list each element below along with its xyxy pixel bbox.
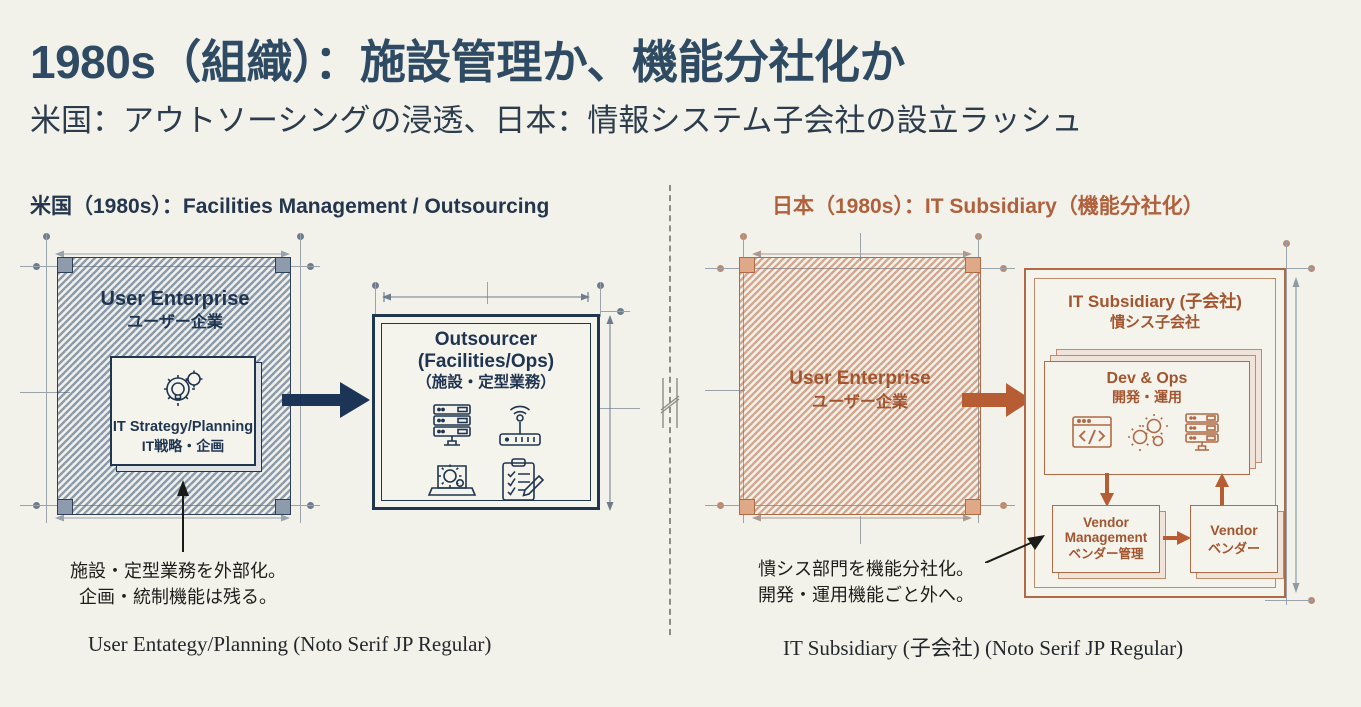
frame-corner	[739, 499, 755, 515]
guide-line-vertical	[375, 282, 376, 317]
it-subsidiary-label-jp: 憒シス子会社	[1110, 314, 1200, 332]
frame-corner	[57, 257, 73, 273]
slide-root: 1980s（組織）：施設管理か、機能分社化か 米国：アウトソーシングの浸透、日本…	[0, 0, 1361, 707]
vendor-label-en: Vendor	[1210, 522, 1257, 538]
code-window-icon	[1070, 413, 1114, 451]
server-rack-icon	[426, 402, 478, 450]
left-panel-heading: 米国（1980s）：Facilities Management / Outsou…	[30, 190, 549, 220]
right-annotation-pointer	[985, 535, 1045, 563]
subsidiary-arrow	[962, 383, 1032, 417]
wireless-router-icon	[494, 402, 546, 450]
vendor-management-box[interactable]: Vendor Management ベンダー管理	[1052, 505, 1160, 573]
page-subtitle: 米国：アウトソーシングの浸透、日本：情報システム子会社の設立ラッシュ	[30, 95, 1082, 140]
right-panel-heading: 日本（1980s）：IT Subsidiary（機能分社化）	[772, 190, 1204, 220]
it-subsidiary-label-en: IT Subsidiary (子会社)	[1068, 292, 1242, 312]
right-caption: IT Subsidiary (子会社) (Noto Serif JP Regul…	[783, 632, 1183, 662]
clipboard-checklist-pencil-icon	[494, 456, 546, 504]
dimension-arrow-horizontal	[55, 513, 290, 523]
guide-line-horizontal	[705, 390, 745, 391]
left-caption: User Entategy/Planning (Noto Serif JP Re…	[88, 632, 491, 657]
guide-line-vertical	[1286, 240, 1287, 605]
devops-icon-row	[1070, 412, 1224, 452]
devops-label-jp: 開発・運用	[1112, 389, 1182, 406]
dimension-arrow-vertical-right	[1291, 277, 1301, 593]
page-title: 1980s（組織）：施設管理か、機能分社化か	[30, 26, 905, 92]
vendor-mgmt-to-vendor-arrow	[1163, 530, 1191, 546]
frame-corner	[275, 499, 291, 515]
it-strategy-label-jp: IT戦略・企画	[142, 438, 224, 455]
guide-line-vertical	[300, 233, 301, 523]
frame-corner	[275, 257, 291, 273]
guide-line-horizontal	[600, 311, 630, 312]
it-strategy-label-en: IT Strategy/Planning	[113, 419, 253, 436]
server-rack-icon	[1180, 412, 1224, 452]
outsourcer-box[interactable]: Outsourcer (Facilities/Ops) （施設・定型業務）	[372, 314, 600, 510]
frame-corner	[57, 499, 73, 515]
user-enterprise-label-left: User Enterprise ユーザー企業	[75, 288, 275, 332]
vendor-management-label-en-1: Vendor	[1083, 516, 1129, 531]
gears-icon	[1124, 413, 1170, 451]
user-enterprise-label-jp: ユーザー企業	[760, 393, 960, 412]
left-annotation: 施設・定型業務を外部化。 企画・統制機能は残る。	[58, 558, 298, 610]
right-annotation: 憒シス部門を機能分社化。 開発・運用機能ごと外へ。	[758, 556, 974, 608]
frame-corner	[965, 499, 981, 515]
outsourcer-label-jp: （施設・定型業務）	[416, 374, 556, 393]
frame-corner	[965, 257, 981, 273]
outsourcer-label-en-1: Outsourcer	[435, 329, 537, 351]
vendor-to-devops-arrow	[1215, 473, 1229, 507]
dimension-arrow-horizontal	[752, 513, 972, 523]
vendor-label-jp: ベンダー	[1208, 541, 1260, 557]
laptop-gear-icon	[426, 456, 478, 504]
vendor-box[interactable]: Vendor ベンダー	[1190, 505, 1278, 573]
outsourcing-arrow	[282, 382, 370, 418]
guide-line-vertical	[46, 233, 47, 523]
user-enterprise-label-en: User Enterprise	[760, 368, 960, 390]
outsourcer-icon-grid	[426, 402, 546, 504]
frame-corner	[739, 257, 755, 273]
user-enterprise-label-right: User Enterprise ユーザー企業	[760, 368, 960, 412]
user-enterprise-label-en: User Enterprise	[75, 288, 275, 311]
left-annotation-line2: 企画・統制機能は残る。	[58, 584, 298, 610]
guide-line-horizontal	[1265, 600, 1313, 601]
devops-box[interactable]: Dev & Ops 開発・運用	[1044, 361, 1250, 475]
left-annotation-line1: 施設・定型業務を外部化。	[58, 558, 298, 584]
devops-label-en: Dev & Ops	[1107, 370, 1188, 388]
left-annotation-pointer	[176, 480, 190, 552]
lightbulb-gears-icon	[159, 367, 207, 411]
vendor-management-label-jp: ベンダー管理	[1068, 547, 1143, 562]
right-annotation-line2: 開発・運用機能ごと外へ。	[758, 582, 974, 608]
vendor-management-label-en-2: Management	[1065, 531, 1148, 546]
dimension-arrow-vertical	[605, 315, 615, 511]
break-symbol-icon	[655, 378, 685, 428]
outsourcer-label-en-2: (Facilities/Ops)	[418, 351, 554, 373]
dimension-arrow-horizontal	[382, 292, 590, 302]
user-enterprise-label-jp: ユーザー企業	[75, 313, 275, 332]
it-strategy-box[interactable]: IT Strategy/Planning IT戦略・企画	[110, 356, 256, 466]
devops-to-vendor-mgmt-arrow	[1100, 473, 1114, 507]
right-annotation-line1: 憒シス部門を機能分社化。	[758, 556, 974, 582]
